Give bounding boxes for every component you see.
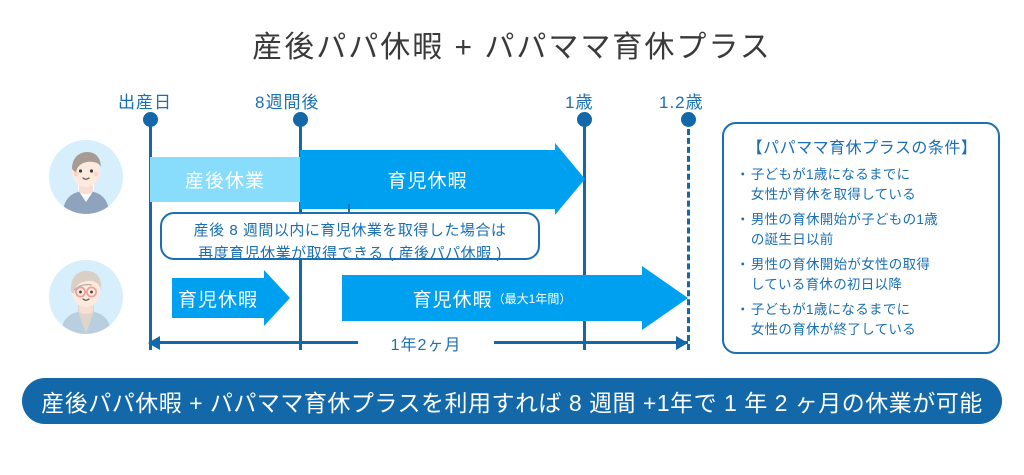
bar-male-arrow-head <box>555 143 585 215</box>
conditions-box: 【パパママ育休プラスの条件】 ・ 子どもが1歳になるまでに 女性が育休を取得して… <box>722 122 1000 354</box>
condition-bullet: ・ <box>736 300 750 339</box>
condition-bullet: ・ <box>736 255 750 294</box>
summary-banner-text: 産後パパ休暇 + パパママ育休プラスを利用すれば 8 週間 +1年で 1 年 2… <box>41 384 983 418</box>
bar-sango-kyugyo-label: 産後休業 <box>185 166 265 193</box>
female-avatar <box>49 260 123 334</box>
bar-female-short-arrow-head <box>264 270 290 326</box>
page-title: 産後パパ休暇 + パパママ育休プラス <box>0 22 1024 66</box>
bar-female-ikuji-long: 育児休暇（最大1年間） <box>342 275 642 321</box>
bar-female-ikuji-short-label: 育児休暇 <box>178 285 258 312</box>
condition-bullet: ・ <box>736 165 750 204</box>
male-avatar <box>49 140 123 214</box>
condition-item-4: ・ 子どもが1歳になるまでに 女性の育休が終了している <box>736 300 988 339</box>
bar-male-ikuji: 育児休暇 <box>300 150 555 209</box>
male-avatar-icon <box>49 140 123 214</box>
condition-item-1: ・ 子どもが1歳になるまでに 女性が育休を取得している <box>736 165 988 204</box>
female-avatar-icon <box>49 260 123 334</box>
bar-female-long-arrow-head <box>642 266 688 330</box>
tick-label-1-2year: 1.2歳 <box>659 88 704 113</box>
condition-text-4: 子どもが1歳になるまでに 女性の育休が終了している <box>751 300 916 339</box>
infographic-root: 産後パパ休暇 + パパママ育休プラス 出産日 8週間後 1歳 1.2歳 <box>0 0 1024 475</box>
tick-label-birth: 出産日 <box>118 88 172 113</box>
condition-item-3: ・ 男性の育休開始が女性の取得 している育休の初日以降 <box>736 255 988 294</box>
condition-item-2: ・ 男性の育休開始が子どもの1歳 の誕生日以前 <box>736 210 988 249</box>
summary-banner: 産後パパ休暇 + パパママ育休プラスを利用すれば 8 週間 +1年で 1 年 2… <box>22 378 1002 424</box>
tick-line-birth <box>149 120 152 350</box>
callout-line-2: 再度育児休業が取得できる ( 産後パパ休暇 ) <box>162 242 538 265</box>
callout-line-1: 産後 8 週間以内に育児休業を取得した場合は <box>162 219 538 242</box>
bar-female-ikuji-long-note: （最大1年間） <box>493 290 572 307</box>
callout-sango-papa: 産後 8 週間以内に育児休業を取得した場合は 再度育児休業が取得できる ( 産後… <box>160 212 540 260</box>
span-label: 1年2ヶ月 <box>358 331 494 355</box>
bar-sango-kyugyo: 産後休業 <box>150 157 300 202</box>
conditions-title: 【パパママ育休プラスの条件】 <box>736 134 988 158</box>
tick-label-8weeks: 8週間後 <box>255 88 319 113</box>
span-arrow-right <box>676 336 688 350</box>
condition-text-1: 子どもが1歳になるまでに 女性が育休を取得している <box>751 165 916 204</box>
bar-female-ikuji-long-label: 育児休暇 <box>413 285 493 312</box>
tick-label-1year: 1歳 <box>565 88 593 113</box>
bar-female-ikuji-short: 育児休暇 <box>172 278 264 318</box>
condition-text-3: 男性の育休開始が女性の取得 している育休の初日以降 <box>751 255 930 294</box>
condition-text-2: 男性の育休開始が子どもの1歳 の誕生日以前 <box>751 210 938 249</box>
bar-male-ikuji-label: 育児休暇 <box>387 166 467 193</box>
condition-bullet: ・ <box>736 210 750 249</box>
